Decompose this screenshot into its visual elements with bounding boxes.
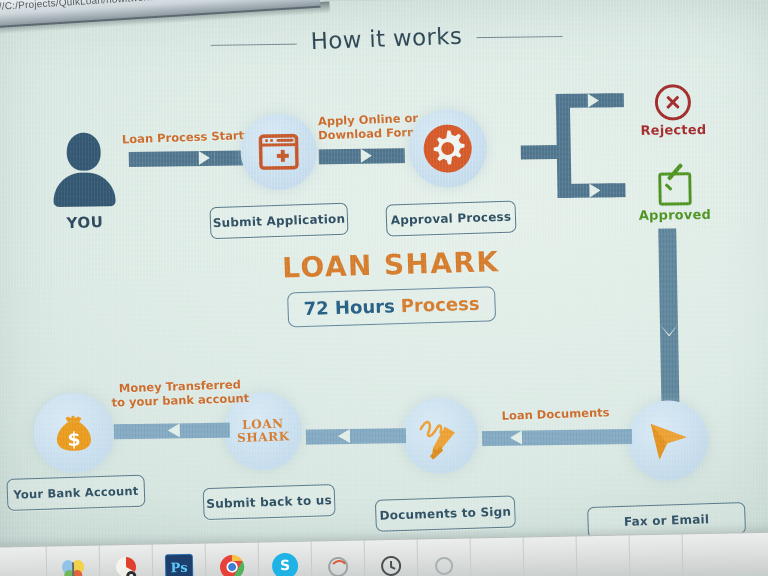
taskbar-item-8[interactable] bbox=[418, 538, 472, 576]
arrow-documents-to-loanshark bbox=[306, 428, 406, 444]
caption-submit-back-to-us[interactable]: Submit back to us bbox=[203, 484, 336, 520]
taskbar-item-paint[interactable] bbox=[100, 545, 154, 576]
brand-badge: 72 Hours Process bbox=[287, 286, 496, 327]
web-form-icon bbox=[256, 130, 301, 175]
bracket-vertical bbox=[556, 94, 572, 198]
svg-text:$: $ bbox=[67, 429, 81, 451]
taskbar-item-11[interactable] bbox=[577, 535, 631, 576]
taskbar-item-skype[interactable]: S bbox=[259, 541, 313, 576]
arrow-you-to-application bbox=[129, 150, 249, 167]
taskbar-item-chrome[interactable] bbox=[206, 542, 260, 576]
app-icon-7 bbox=[378, 551, 404, 576]
taskbar-item-12[interactable] bbox=[630, 534, 684, 576]
taskbar-item-6[interactable] bbox=[312, 540, 366, 576]
chrome-icon bbox=[219, 554, 245, 576]
address-bar-url[interactable]: ///C:/Projects/QuikLoan/howitworks.html bbox=[0, 0, 180, 13]
slide-screen: How it works YOU Loan Process Starts bbox=[0, 0, 768, 566]
taskbar-item-10[interactable] bbox=[524, 536, 578, 576]
check-box-icon bbox=[658, 172, 692, 205]
skype-icon: S bbox=[272, 553, 298, 576]
caption-approval-process[interactable]: Approval Process bbox=[385, 200, 516, 236]
logo-line2: SHARK bbox=[236, 430, 289, 445]
caption-documents-to-sign[interactable]: Documents to Sign bbox=[375, 495, 516, 531]
person-head bbox=[66, 132, 101, 170]
verdict-approved-label: Approved bbox=[627, 208, 723, 224]
person-body bbox=[53, 172, 116, 207]
badge-process: Process bbox=[400, 294, 479, 317]
arrow-loanshark-to-bank bbox=[114, 423, 230, 440]
branch-bottom-chevron bbox=[589, 183, 600, 197]
paper-plane-icon bbox=[643, 415, 694, 466]
app-icon-8 bbox=[431, 550, 457, 576]
header-rule-right bbox=[476, 35, 562, 37]
infographic-slide: How it works YOU Loan Process Starts bbox=[0, 0, 768, 566]
label-loan-documents: Loan Documents bbox=[483, 406, 627, 424]
branch-top-chevron bbox=[588, 93, 599, 107]
badge-hours: 72 Hours bbox=[303, 296, 395, 320]
photographed-screen: How it works YOU Loan Process Starts bbox=[0, 0, 768, 576]
money-bag-icon: $ bbox=[49, 408, 98, 457]
verdict-rejected-label: Rejected bbox=[625, 123, 721, 139]
taskbar-item-start[interactable] bbox=[0, 547, 47, 576]
step-node-your-bank-account: $ bbox=[33, 392, 114, 473]
app-icon-6 bbox=[325, 552, 351, 576]
step-node-documents-to-sign bbox=[401, 397, 478, 474]
arrow-fax-to-documents bbox=[482, 429, 632, 446]
taskbar-item-9[interactable] bbox=[471, 537, 525, 576]
label-money-transferred: Money Transferred to your bank account bbox=[97, 378, 264, 411]
step-node-fax-or-email bbox=[627, 400, 708, 481]
skype-icon-label: S bbox=[280, 558, 290, 574]
caption-submit-application[interactable]: Submit Application bbox=[209, 203, 348, 240]
gear-icon bbox=[421, 122, 474, 175]
brand-block: LOAN SHARK 72 Hours Process bbox=[0, 243, 768, 330]
butterfly-icon bbox=[60, 557, 86, 576]
verdict-approved: Approved bbox=[626, 172, 723, 224]
label-apply-online-line2: Download Form bbox=[318, 124, 420, 142]
photoshop-icon: Ps bbox=[165, 554, 194, 576]
photoshop-icon-label: Ps bbox=[170, 560, 187, 575]
caption-your-bank-account[interactable]: Your Bank Account bbox=[6, 475, 145, 511]
page-title: How it works bbox=[310, 24, 462, 56]
paint-icon bbox=[113, 556, 139, 576]
taskbar-item-7[interactable] bbox=[365, 539, 419, 576]
actor-label: YOU bbox=[48, 212, 123, 233]
brand-name: LOAN SHARK bbox=[0, 237, 768, 294]
loan-shark-logo-icon: LOAN SHARK bbox=[236, 417, 290, 446]
arrow-application-to-approval bbox=[319, 148, 405, 164]
x-circle-icon bbox=[655, 84, 692, 120]
taskbar-item-butterfly[interactable] bbox=[47, 546, 101, 576]
verdict-rejected: Rejected bbox=[625, 84, 722, 139]
signature-pen-icon bbox=[414, 410, 465, 461]
step-node-submit-application bbox=[240, 113, 317, 190]
header-rule-left bbox=[211, 43, 297, 45]
branch-bracket bbox=[556, 93, 616, 198]
taskbar-item-photoshop[interactable]: Ps bbox=[153, 544, 207, 576]
step-node-approval-process bbox=[408, 109, 487, 188]
